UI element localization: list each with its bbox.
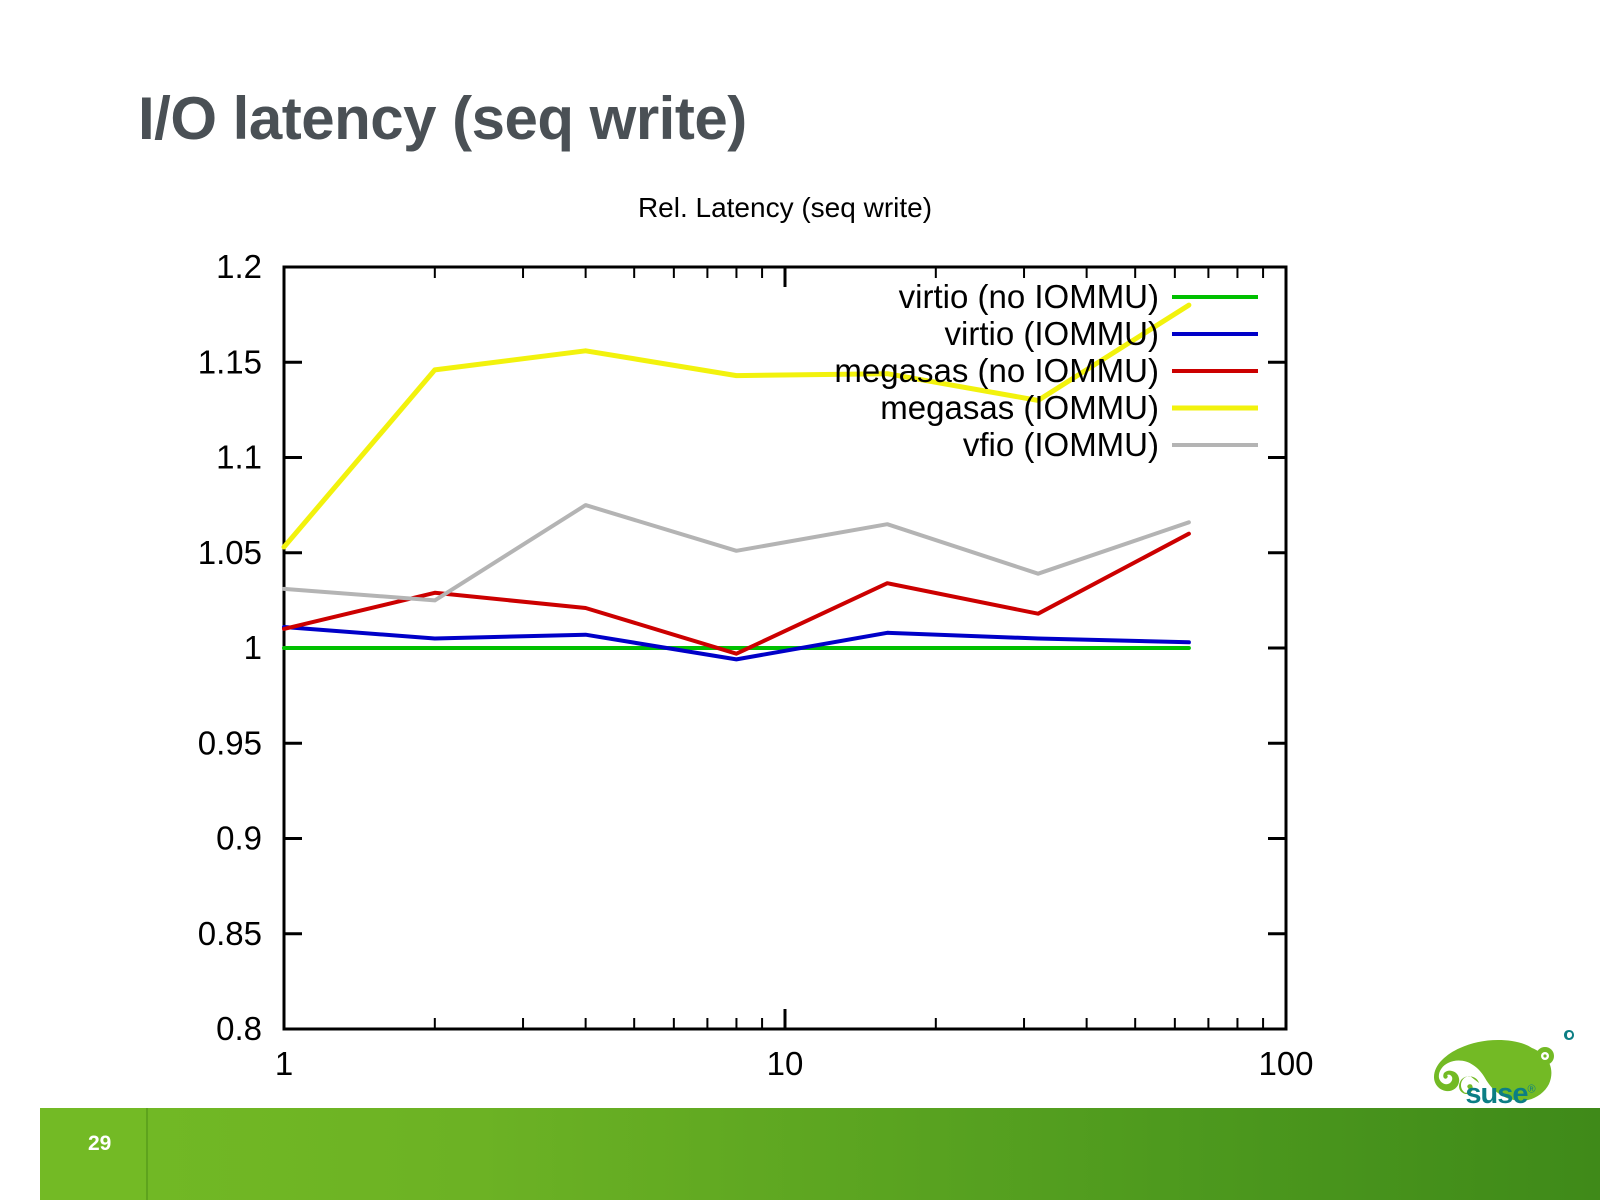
y-axis-label: 0.85 (198, 915, 262, 952)
page-number: 29 (88, 1132, 111, 1156)
x-axis-label: 10 (767, 1045, 804, 1082)
legend-label: megasas (IOMMU) (880, 389, 1159, 426)
x-axis-label: 100 (1258, 1045, 1313, 1082)
suse-wordmark-text: suse (1465, 1078, 1527, 1110)
suse-wordmark: suse® (1414, 1078, 1586, 1111)
y-axis-label: 1.15 (198, 343, 262, 380)
x-axis-label: 1 (275, 1045, 293, 1082)
y-axis-label: 1.2 (216, 248, 262, 285)
y-axis-label: 0.95 (198, 724, 262, 761)
legend-label: virtio (IOMMU) (945, 315, 1159, 352)
chart-container: Rel. Latency (seq write) 0.80.850.90.951… (0, 180, 1600, 1090)
line-chart: 0.80.850.90.9511.051.11.151.2110100virti… (0, 180, 1600, 1090)
registered-mark: ® (1528, 1083, 1535, 1095)
y-axis-label: 1 (244, 629, 262, 666)
y-axis-label: 0.9 (216, 820, 262, 857)
legend-label: megasas (no IOMMU) (834, 352, 1159, 389)
legend-label: vfio (IOMMU) (963, 426, 1159, 463)
y-axis-label: 0.8 (216, 1010, 262, 1047)
series-line (284, 505, 1189, 600)
legend-label: virtio (no IOMMU) (899, 278, 1159, 315)
y-axis-label: 1.05 (198, 534, 262, 571)
footer-bar (40, 1108, 1600, 1200)
page-title: I/O latency (seq write) (138, 84, 747, 153)
y-axis-label: 1.1 (216, 439, 262, 476)
